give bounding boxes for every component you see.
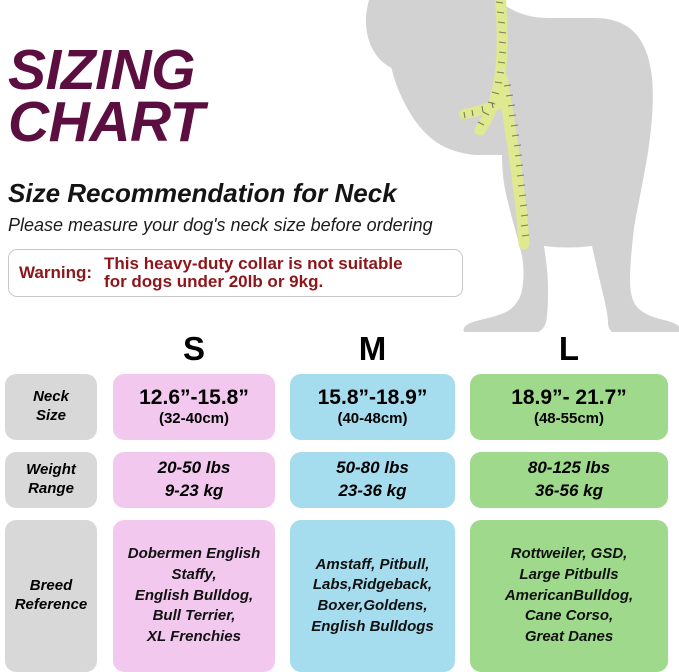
row-label-breed-reference-line-2: Reference — [15, 596, 88, 615]
instruction-text: Please measure your dog's neck size befo… — [8, 215, 433, 236]
breed-s-line-1: Dobermen English — [128, 544, 261, 565]
cell-weight-range-s: 20-50 lbs 9-23 kg — [113, 452, 275, 508]
cell-neck-size-l-main: 18.9”- 21.7” — [511, 386, 627, 409]
cell-neck-size-s: 12.6”-15.8” (32-40cm) — [113, 374, 275, 440]
breed-l-line-4: Cane Corso, — [525, 606, 613, 627]
breed-m-line-1: Amstaff, Pitbull, — [316, 555, 430, 576]
row-weight-range: Weight Range 20-50 lbs 9-23 kg 50-80 lbs… — [0, 452, 679, 508]
cell-weight-range-l: 80-125 lbs 36-56 kg — [470, 452, 668, 508]
row-label-neck-size-line-1: Neck — [33, 388, 69, 407]
row-neck-size: Neck Size 12.6”-15.8” (32-40cm) 15.8”-18… — [0, 374, 679, 440]
cell-neck-size-s-sub: (32-40cm) — [159, 410, 229, 428]
size-header-row: S M L — [0, 332, 679, 368]
warning-message-line-2: for dogs under 20lb or 9kg. — [104, 273, 403, 291]
row-label-breed-reference-line-1: Breed — [30, 577, 73, 596]
size-header-s: S — [113, 332, 275, 365]
cell-neck-size-m: 15.8”-18.9” (40-48cm) — [290, 374, 455, 440]
breed-l-line-2: Large Pitbulls — [519, 565, 618, 586]
warning-message: This heavy-duty collar is not suitable f… — [92, 255, 403, 292]
cell-weight-range-m-line-2: 23-36 kg — [338, 480, 406, 503]
cell-weight-range-s-line-2: 9-23 kg — [165, 480, 224, 503]
title-line-1: SIZING — [8, 44, 438, 96]
row-label-weight-range: Weight Range — [5, 452, 97, 508]
cell-neck-size-m-main: 15.8”-18.9” — [318, 386, 428, 409]
sizing-chart-page: SIZING CHART Size Recommendation for Nec… — [0, 0, 679, 672]
title-line-2: CHART — [8, 96, 438, 148]
breed-s-line-4: Bull Terrier, — [153, 606, 236, 627]
cell-weight-range-m: 50-80 lbs 23-36 kg — [290, 452, 455, 508]
breed-s-line-2: Staffy, — [171, 565, 216, 586]
row-label-weight-range-line-1: Weight — [26, 461, 76, 480]
row-label-breed-reference: Breed Reference — [5, 520, 97, 672]
cell-weight-range-l-line-2: 36-56 kg — [535, 480, 603, 503]
warning-box: Warning: This heavy-duty collar is not s… — [8, 249, 463, 297]
row-label-neck-size: Neck Size — [5, 374, 97, 440]
size-header-l: L — [470, 332, 668, 365]
cell-neck-size-l: 18.9”- 21.7” (48-55cm) — [470, 374, 668, 440]
cell-breed-reference-s: Dobermen English Staffy, English Bulldog… — [113, 520, 275, 672]
breed-l-line-1: Rottweiler, GSD, — [511, 544, 628, 565]
page-title: SIZING CHART — [8, 44, 438, 149]
size-header-m: M — [290, 332, 455, 365]
cell-neck-size-m-sub: (40-48cm) — [337, 410, 407, 428]
measuring-tape-icon — [464, 0, 529, 244]
cell-breed-reference-l: Rottweiler, GSD, Large Pitbulls American… — [470, 520, 668, 672]
breed-l-line-5: Great Danes — [525, 627, 613, 648]
row-breed-reference: Breed Reference Dobermen English Staffy,… — [0, 520, 679, 672]
cell-neck-size-s-main: 12.6”-15.8” — [139, 386, 249, 409]
breed-m-line-3: Boxer,Goldens, — [317, 596, 427, 617]
breed-m-line-2: Labs,Ridgeback, — [313, 575, 432, 596]
row-label-neck-size-line-2: Size — [36, 407, 66, 426]
cell-weight-range-m-line-1: 50-80 lbs — [336, 457, 409, 480]
subtitle: Size Recommendation for Neck — [8, 178, 397, 209]
row-label-weight-range-line-2: Range — [28, 480, 74, 499]
breed-m-line-4: English Bulldogs — [311, 617, 434, 638]
breed-l-line-3: AmericanBulldog, — [505, 586, 633, 607]
warning-message-line-1: This heavy-duty collar is not suitable — [104, 255, 403, 273]
breed-s-line-5: XL Frenchies — [147, 627, 241, 648]
sizing-table: S M L Neck Size 12.6”-15.8” (32-40cm) 15… — [0, 332, 679, 672]
warning-label: Warning: — [9, 263, 92, 283]
breed-s-line-3: English Bulldog, — [135, 586, 253, 607]
cell-weight-range-l-line-1: 80-125 lbs — [528, 457, 610, 480]
cell-neck-size-l-sub: (48-55cm) — [534, 410, 604, 428]
cell-breed-reference-m: Amstaff, Pitbull, Labs,Ridgeback, Boxer,… — [290, 520, 455, 672]
cell-weight-range-s-line-1: 20-50 lbs — [158, 457, 231, 480]
